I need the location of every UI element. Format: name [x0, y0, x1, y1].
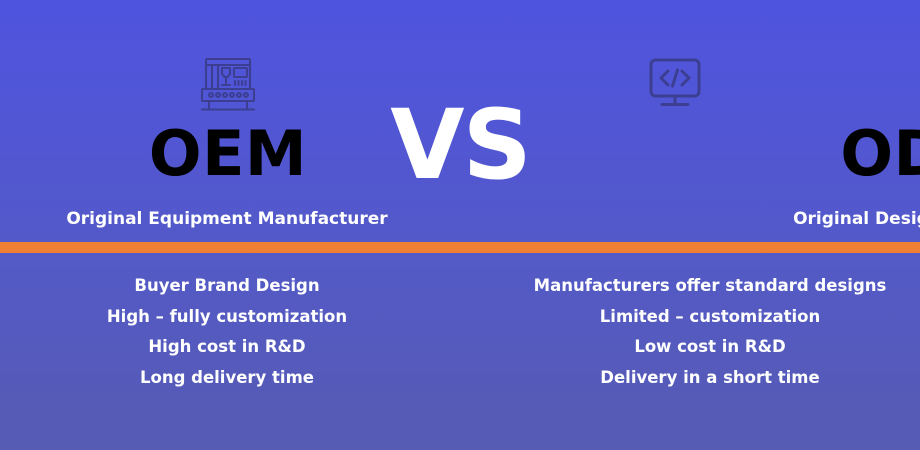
comparison-header: OEM Original Equipment Manufacturer ODM … [0, 0, 920, 242]
orange-divider [0, 242, 920, 253]
list-item: Low cost in R&D [480, 332, 920, 363]
list-item: Manufacturers offer standard designs [480, 271, 920, 302]
list-item: High – fully customization [0, 302, 457, 333]
oem-feature-list: Buyer Brand Design High – fully customiz… [0, 253, 460, 450]
oem-subtitle: Original Equipment Manufacturer [0, 208, 457, 230]
comparison-details: Buyer Brand Design High – fully customiz… [0, 253, 920, 450]
odm-feature-list: Manufacturers offer standard designs Lim… [460, 253, 920, 450]
list-item: High cost in R&D [0, 332, 457, 363]
list-item: Limited – customization [480, 302, 920, 333]
list-item: Long delivery time [0, 363, 457, 394]
list-item: Delivery in a short time [480, 363, 920, 394]
versus-label: VS [0, 95, 920, 195]
oem-vs-odm-infographic: OEM Original Equipment Manufacturer ODM … [0, 0, 920, 450]
list-item: Buyer Brand Design [0, 271, 457, 302]
odm-subtitle: Original Design Manufacturer [705, 208, 920, 230]
